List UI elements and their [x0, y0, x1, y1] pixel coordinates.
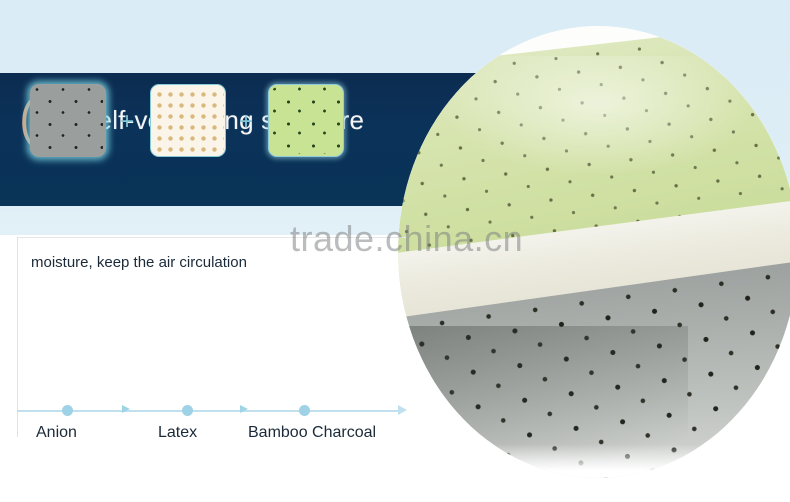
plus-sign-1: +: [120, 110, 134, 134]
material-swatch-bamboo-charcoal[interactable]: [268, 84, 344, 157]
axis-arrow-icon-end: [398, 405, 407, 415]
material-label-bamboo-charcoal: Bamboo Charcoal: [248, 424, 376, 442]
axis-node-anion: [62, 405, 73, 416]
anion-dots-offset: [33, 87, 103, 154]
material-swatch-row: + + Anion Latex Bamboo Charcoal: [0, 0, 790, 502]
material-swatch-latex[interactable]: [150, 84, 226, 157]
axis-arrow-icon-2: [240, 405, 248, 413]
axis-node-bamboo: [299, 405, 310, 416]
material-label-anion: Anion: [36, 424, 77, 442]
plus-sign-2: +: [239, 110, 253, 134]
timeline-axis: [17, 410, 402, 412]
axis-node-latex: [182, 405, 193, 416]
material-label-latex: Latex: [158, 424, 197, 442]
material-swatch-anion[interactable]: [30, 84, 106, 157]
product-feature-slide: C Self-ventilating structure moisture, k…: [0, 0, 790, 502]
axis-arrow-icon-1: [122, 405, 130, 413]
bamboo-dots-offset: [271, 87, 341, 154]
latex-dots: [152, 86, 224, 155]
